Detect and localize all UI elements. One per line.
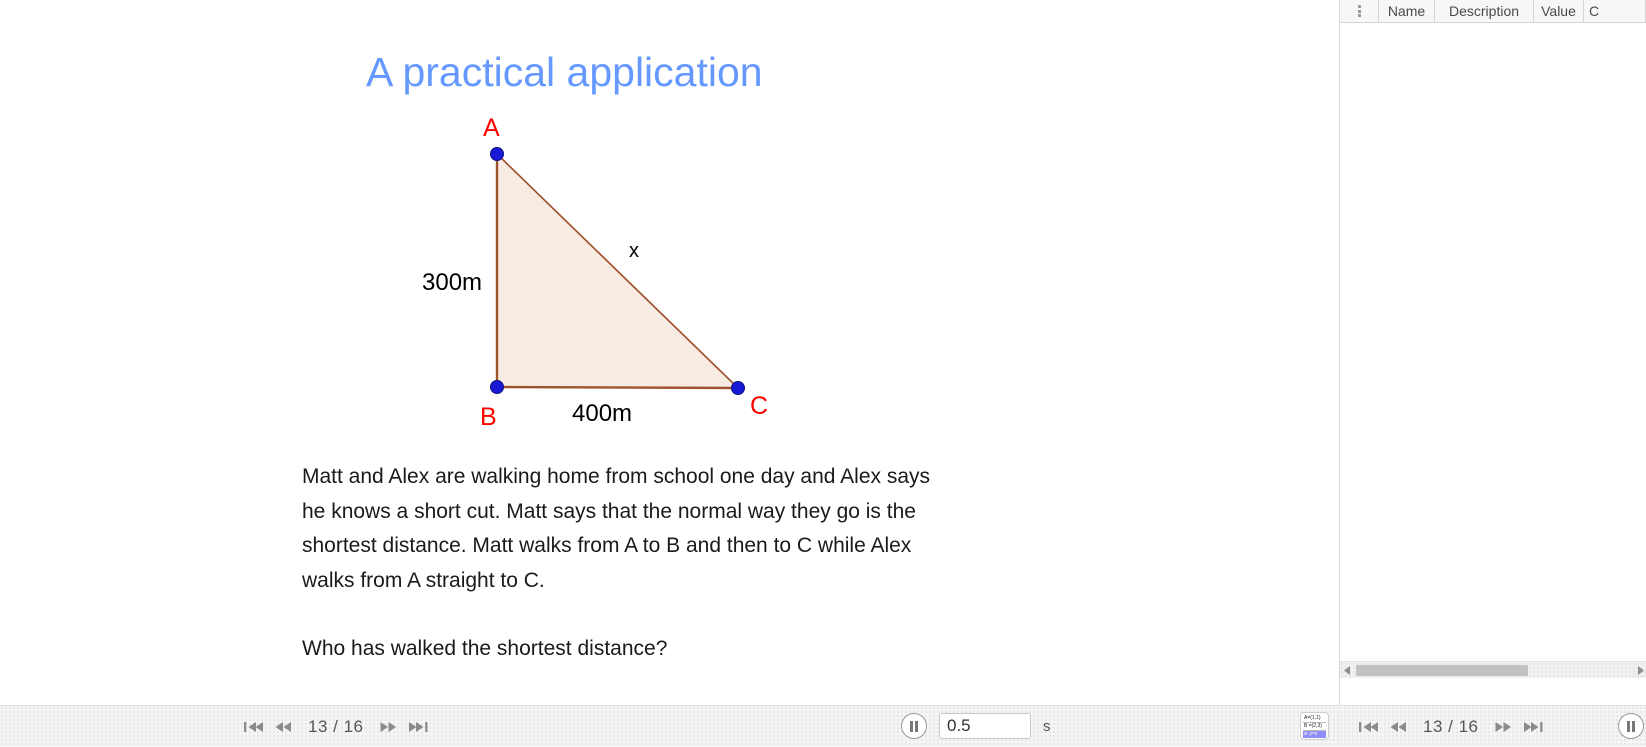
scrollbar-thumb[interactable] — [1356, 665, 1528, 676]
pause-button[interactable] — [901, 713, 927, 739]
vertex-label-c: C — [750, 394, 768, 419]
pause-bar-right — [915, 721, 918, 732]
problem-question: Who has walked the shortest distance? — [302, 632, 942, 667]
grip-dots-icon — [1358, 5, 1361, 17]
pause-bar-left-right — [1627, 721, 1630, 732]
first-slide-icon[interactable] — [238, 714, 268, 740]
side-label-ac: x — [629, 239, 639, 263]
scroll-right-icon[interactable] — [1633, 662, 1646, 679]
segment-bc[interactable] — [497, 387, 738, 388]
graphics-bottom-toolbar: 13 / 16 s A=(1,1) B =(2,3) a: y=x — [0, 705, 1339, 747]
slide-page-indicator-right: 13 / 16 — [1413, 717, 1489, 737]
vertex-point-a[interactable] — [491, 148, 504, 161]
next-slide-icon-right[interactable] — [1489, 714, 1519, 740]
slide-page-indicator: 13 / 16 — [298, 717, 374, 737]
problem-statement: Matt and Alex are walking home from scho… — [302, 460, 942, 667]
vertex-point-b[interactable] — [491, 381, 504, 394]
last-slide-icon-right[interactable] — [1519, 714, 1549, 740]
vertex-label-b: B — [480, 405, 497, 430]
column-header-value[interactable]: Value — [1534, 0, 1584, 22]
spreadsheet-view[interactable]: Name Description Value C — [1339, 0, 1646, 747]
graphics-view[interactable]: A practical application A B C 300m 400m … — [0, 0, 1339, 747]
animation-speed-input[interactable] — [939, 713, 1031, 739]
triangle-svg — [0, 0, 900, 450]
algebra-view-icon[interactable]: A=(1,1) B =(2,3) a: y=x — [1300, 712, 1329, 740]
algebra-icon-line-2: B =(2,3) — [1303, 723, 1326, 731]
slide-navigation-controls: 13 / 16 — [238, 714, 434, 740]
problem-paragraph-1: Matt and Alex are walking home from scho… — [302, 460, 942, 598]
horizontal-scrollbar[interactable] — [1340, 661, 1646, 678]
previous-slide-icon[interactable] — [268, 714, 298, 740]
spreadsheet-slide-navigation-controls: 13 / 16 — [1353, 714, 1549, 740]
scrollbar-track[interactable] — [1354, 662, 1633, 679]
vertex-label-a: A — [483, 116, 500, 141]
pause-bar-left — [910, 721, 913, 732]
pause-button-right[interactable] — [1618, 713, 1644, 739]
scroll-left-icon[interactable] — [1340, 662, 1354, 679]
paragraph-spacer — [302, 598, 942, 632]
pause-bar-right-right — [1632, 721, 1635, 732]
spreadsheet-bottom-toolbar: 13 / 16 — [1339, 705, 1646, 747]
speed-unit-label: s — [1043, 718, 1051, 735]
column-header-caption[interactable]: C — [1584, 0, 1646, 22]
column-header-name[interactable]: Name — [1379, 0, 1435, 22]
algebra-icon-line-1: A=(1,1) — [1303, 715, 1326, 723]
side-label-ab: 300m — [422, 271, 482, 295]
next-slide-icon[interactable] — [374, 714, 404, 740]
column-header-description[interactable]: Description — [1435, 0, 1534, 22]
first-slide-icon-right[interactable] — [1353, 714, 1383, 740]
vertex-point-c[interactable] — [732, 382, 745, 395]
table-body[interactable] — [1340, 23, 1646, 661]
side-label-bc: 400m — [572, 402, 632, 426]
table-header-row: Name Description Value C — [1340, 0, 1646, 23]
algebra-icon-line-3: a: y=x — [1303, 731, 1326, 738]
animation-player-controls: s — [901, 713, 1051, 739]
spreadsheet-footer-spacer — [1340, 678, 1646, 705]
previous-slide-icon-right[interactable] — [1383, 714, 1413, 740]
column-drag-handle-icon[interactable] — [1340, 0, 1379, 22]
geogebra-app-window: A practical application A B C 300m 400m … — [0, 0, 1646, 747]
triangle-figure[interactable]: A B C 300m 400m x — [0, 0, 900, 450]
last-slide-icon[interactable] — [404, 714, 434, 740]
